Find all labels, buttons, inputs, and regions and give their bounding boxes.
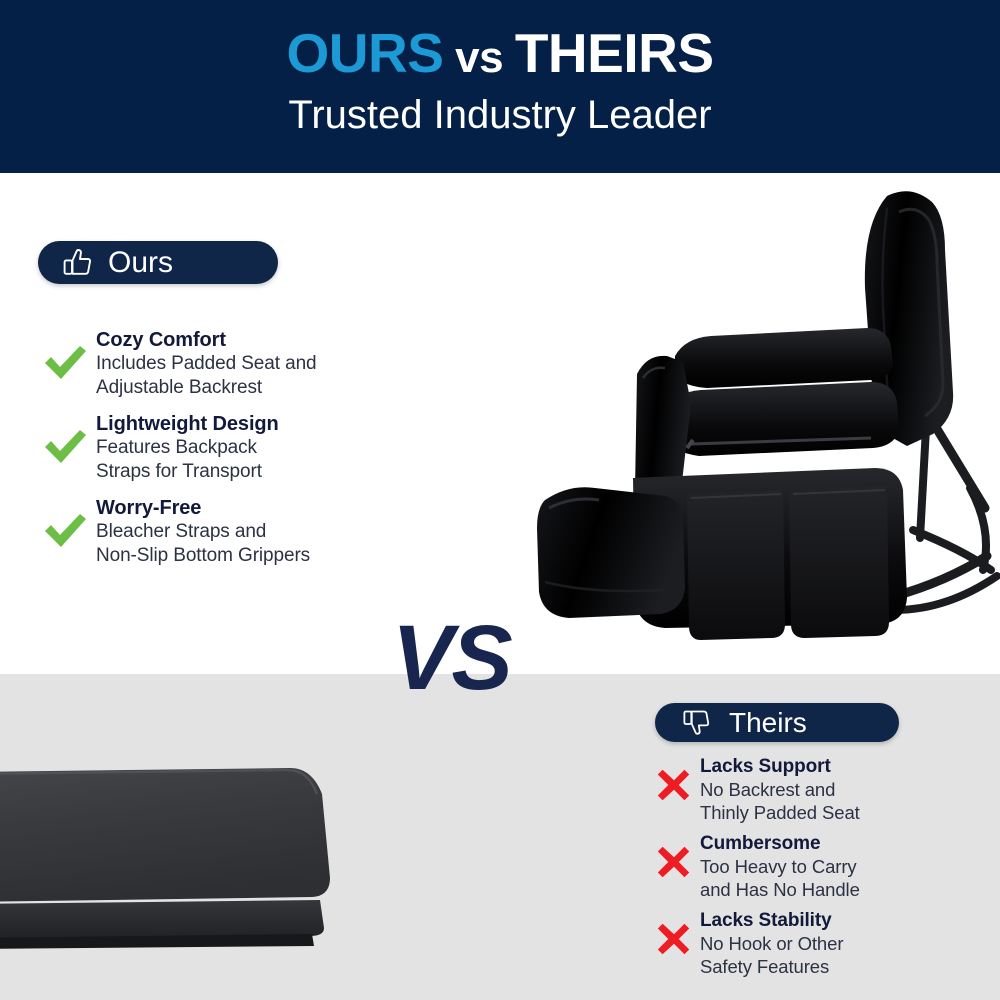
theirs-feature-desc-line1: No Backrest and <box>700 779 835 800</box>
ours-feature-item: Lightweight Design Features Backpack Str… <box>34 410 414 484</box>
theirs-feature-desc-line2: Thinly Padded Seat <box>700 802 860 823</box>
theirs-feature-text: Lacks Support No Backrest and Thinly Pad… <box>700 753 998 824</box>
ours-feature-title: Worry-Free <box>96 497 201 519</box>
page-title: OURS vs THEIRS <box>0 24 1000 87</box>
comparison-infographic: OURS vs THEIRS Trusted Industry Leader <box>0 0 1000 1000</box>
theirs-feature-list: Lacks Support No Backrest and Thinly Pad… <box>648 753 998 984</box>
ours-feature-text: Cozy Comfort Includes Padded Seat and Ad… <box>96 326 414 400</box>
ours-feature-desc-line2: Straps for Transport <box>96 461 262 482</box>
ours-feature-desc-line1: Features Backpack <box>96 437 257 458</box>
theirs-feature-title: Lacks Stability <box>700 910 832 931</box>
theirs-feature-desc-line2: Safety Features <box>700 956 829 977</box>
title-ours-word: OURS <box>286 22 443 84</box>
ours-product-image <box>515 178 1000 658</box>
ours-feature-desc-line1: Bleacher Straps and <box>96 521 266 542</box>
thumbs-down-icon <box>679 707 713 739</box>
green-check-icon <box>34 494 96 568</box>
header-banner: OURS vs THEIRS Trusted Industry Leader <box>0 0 1000 173</box>
ours-feature-desc-line2: Non-Slip Bottom Grippers <box>96 545 310 566</box>
green-check-icon <box>34 410 96 484</box>
ours-feature-title: Cozy Comfort <box>96 329 226 351</box>
ours-feature-text: Lightweight Design Features Backpack Str… <box>96 410 414 484</box>
ours-feature-item: Worry-Free Bleacher Straps and Non-Slip … <box>34 494 414 568</box>
theirs-feature-title: Cumbersome <box>700 833 820 854</box>
red-x-icon <box>648 830 700 894</box>
vs-divider-label: VS <box>392 612 511 704</box>
ours-feature-item: Cozy Comfort Includes Padded Seat and Ad… <box>34 326 414 400</box>
ours-feature-desc-line1: Includes Padded Seat and <box>96 353 317 374</box>
page-subtitle: Trusted Industry Leader <box>0 92 1000 138</box>
title-theirs-word: THEIRS <box>515 22 714 84</box>
ours-feature-desc-line2: Adjustable Backrest <box>96 377 262 398</box>
theirs-feature-item: Lacks Stability No Hook or Other Safety … <box>648 907 998 978</box>
theirs-product-image <box>0 750 390 970</box>
theirs-feature-text: Cumbersome Too Heavy to Carry and Has No… <box>700 830 998 901</box>
theirs-feature-item: Lacks Support No Backrest and Thinly Pad… <box>648 753 998 824</box>
theirs-badge-label: Theirs <box>729 709 807 737</box>
title-vs-word: vs <box>443 33 514 82</box>
ours-feature-title: Lightweight Design <box>96 413 279 435</box>
thumbs-up-icon <box>60 247 94 279</box>
ours-badge-label: Ours <box>108 248 173 278</box>
ours-feature-list: Cozy Comfort Includes Padded Seat and Ad… <box>34 326 414 578</box>
theirs-feature-desc-line2: and Has No Handle <box>700 879 860 900</box>
red-x-icon <box>648 753 700 817</box>
theirs-feature-desc-line1: Too Heavy to Carry <box>700 856 857 877</box>
red-x-icon <box>648 907 700 971</box>
theirs-feature-item: Cumbersome Too Heavy to Carry and Has No… <box>648 830 998 901</box>
theirs-badge: Theirs <box>655 703 899 742</box>
green-check-icon <box>34 326 96 400</box>
ours-feature-text: Worry-Free Bleacher Straps and Non-Slip … <box>96 494 414 568</box>
theirs-feature-desc-line1: No Hook or Other <box>700 933 843 954</box>
theirs-feature-text: Lacks Stability No Hook or Other Safety … <box>700 907 998 978</box>
theirs-feature-title: Lacks Support <box>700 756 831 777</box>
ours-badge: Ours <box>38 241 278 284</box>
